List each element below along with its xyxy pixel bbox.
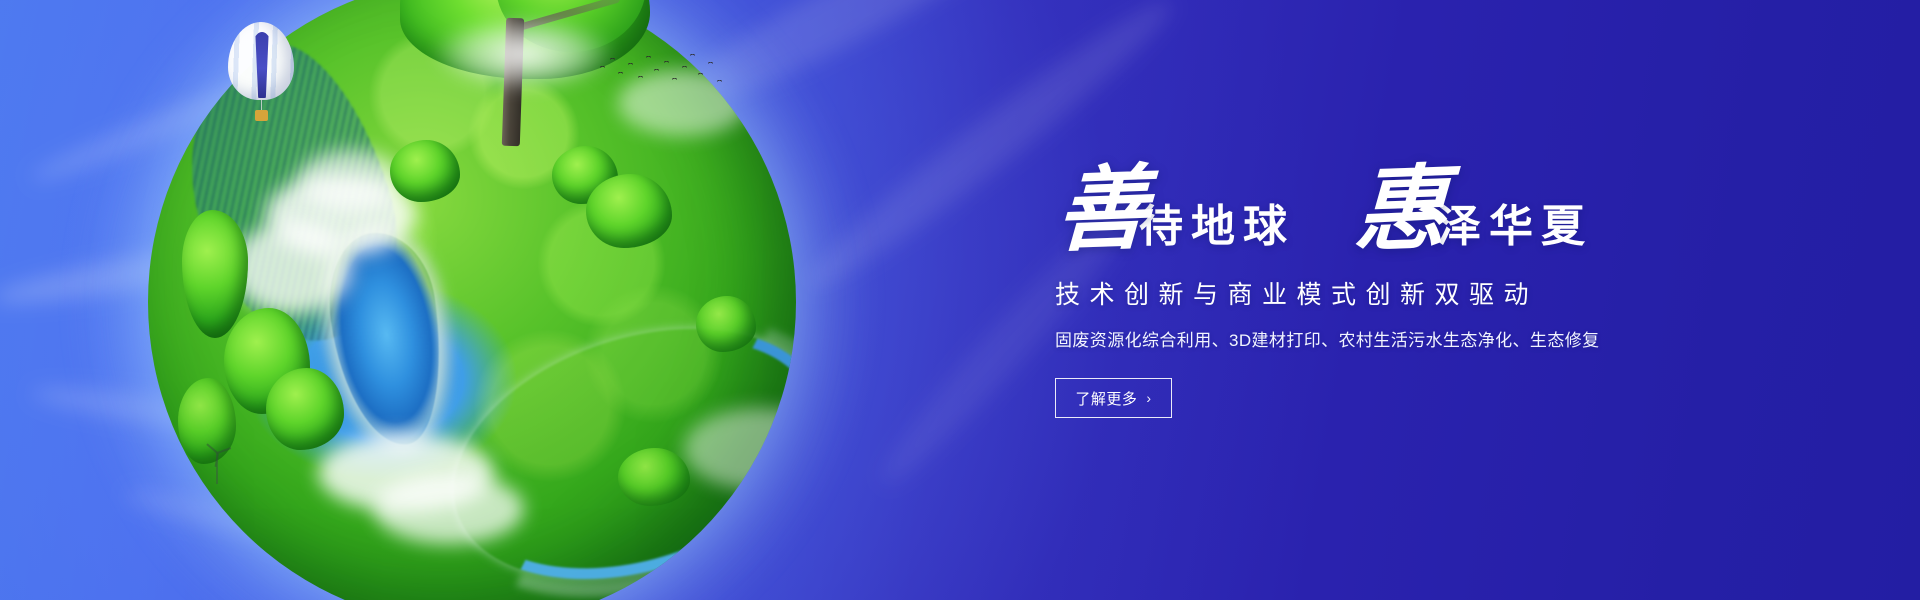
learn-more-button[interactable]: 了解更多 › [1055,378,1172,418]
tree-icon [266,368,344,450]
cloud-icon [232,222,352,314]
headline-lead-char: 惠 [1353,162,1446,257]
headline-rest-chars: 泽华夏 [1437,205,1593,253]
headline-phrase-1: 善 待地球 [1055,164,1295,256]
windmill-blade [218,447,232,453]
hero-description: 固废资源化综合利用、3D建材打印、农村生活污水生态净化、生态修复 [1055,330,1815,352]
tree-icon [182,210,248,338]
balloon-basket [255,110,268,121]
hero-banner: 善 待地球 惠 泽华夏 技术创新与商业模式创新双驱动 固废资源化综合利用、3D建… [0,0,1920,600]
tree-icon [390,140,460,202]
headline-rest-chars: 待地球 [1139,205,1295,253]
page-title: 善 待地球 惠 泽华夏 [1055,150,1815,256]
hot-air-balloon-icon [228,22,294,126]
chevron-right-icon: › [1146,391,1151,405]
tree-icon [618,448,690,506]
windmill-icon [204,444,230,484]
hero-subtitle: 技术创新与商业模式创新双驱动 [1055,280,1815,310]
hero-copy: 善 待地球 惠 泽华夏 技术创新与商业模式创新双驱动 固废资源化综合利用、3D建… [1055,150,1815,418]
cloud-icon [318,434,494,512]
tree-icon [696,296,756,352]
cloud-icon [298,150,402,210]
bird-flock-icon [598,52,728,94]
headline-lead-char: 善 [1055,162,1148,257]
headline-phrase-2: 惠 泽华夏 [1353,164,1593,256]
cloud-icon [374,474,524,544]
learn-more-label: 了解更多 [1075,388,1137,409]
tree-icon [586,174,672,248]
